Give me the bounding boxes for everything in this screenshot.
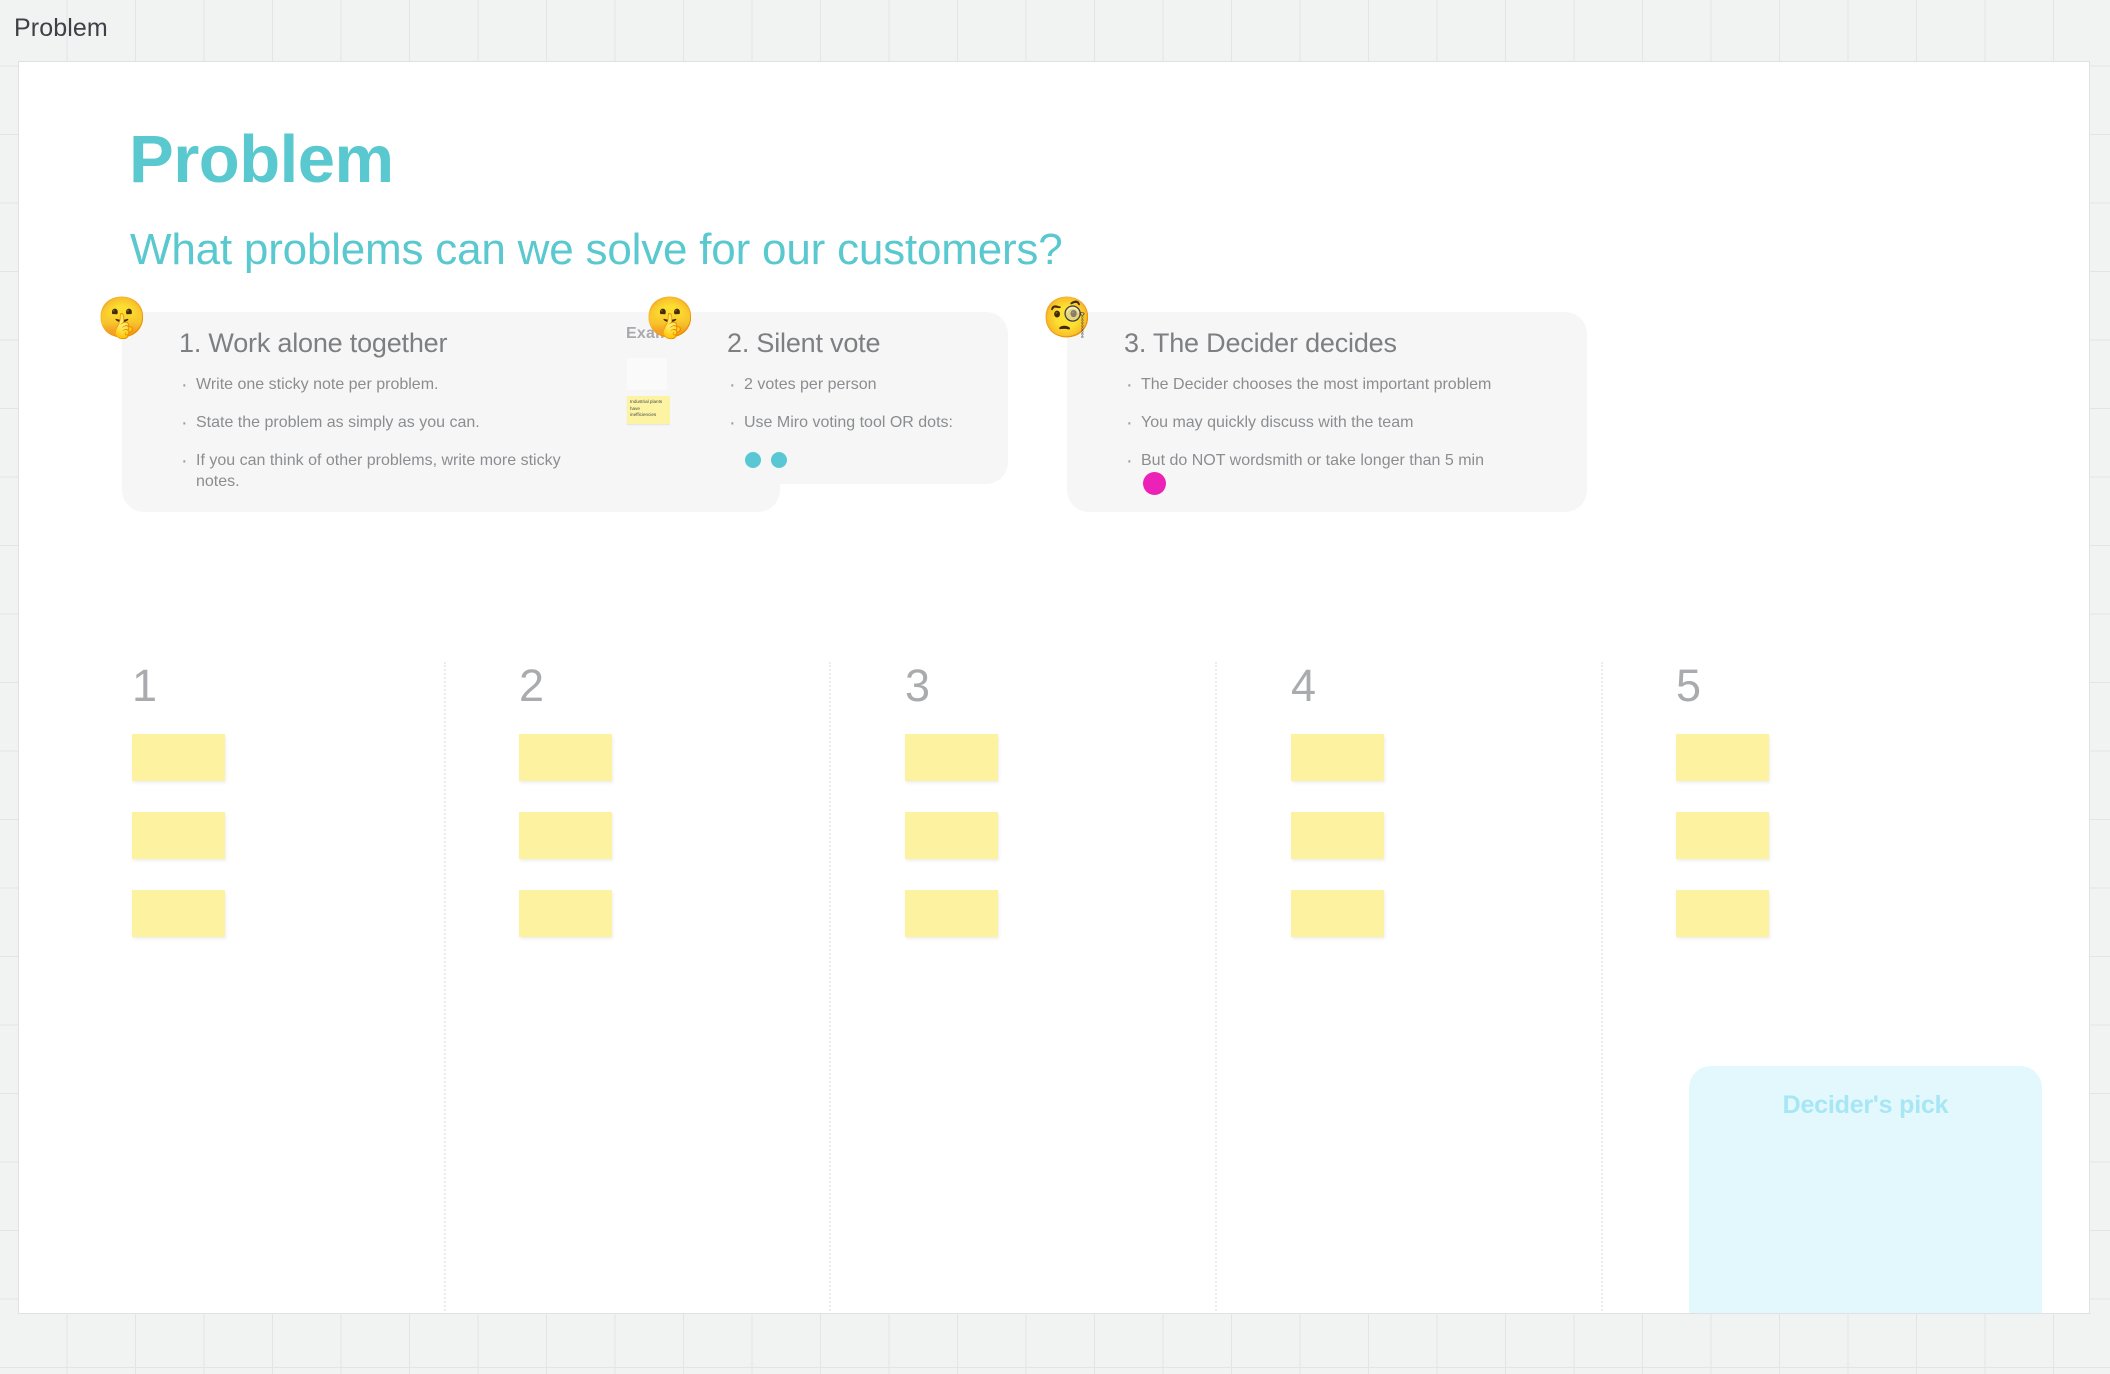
column-number-2: 2 [519,663,544,708]
sticky-note[interactable] [1291,734,1384,781]
sticky-note[interactable] [905,812,998,859]
sticky-note[interactable] [1291,812,1384,859]
card-bullet: Use Miro voting tool OR dots: [727,412,953,433]
page-title: Problem [129,126,394,193]
card-title: 1. Work alone together [179,328,447,359]
example-sticky-note[interactable]: Industrial plants have inefficiencies [627,396,670,424]
card-bullet-list: The Decider chooses the most important p… [1124,374,1491,488]
sticky-note[interactable] [905,890,998,937]
card-bullet: If you can think of other problems, writ… [179,450,571,492]
card-bullet-list: 2 votes per person Use Miro voting tool … [727,374,953,450]
card-bullet: State the problem as simply as you can. [179,412,571,433]
card-bullet: Write one sticky note per problem. [179,374,571,395]
sticky-note[interactable] [1291,890,1384,937]
sticky-note[interactable] [905,734,998,781]
sticky-note[interactable] [1676,734,1769,781]
card-title: 3. The Decider decides [1124,328,1397,359]
column-divider [1601,662,1603,1314]
frame-title[interactable]: Problem [14,14,108,43]
card-bullet: The Decider chooses the most important p… [1124,374,1491,395]
board-frame[interactable]: Problem What problems can we solve for o… [18,61,2090,1314]
shushing-face-emoji: 🤫 [97,298,147,338]
card-bullet: 2 votes per person [727,374,953,395]
sticky-note[interactable] [132,812,225,859]
instruction-card-3[interactable]: 🧐 3. The Decider decides The Decider cho… [1067,312,1587,512]
decider-vote-dot[interactable] [1143,472,1166,495]
page-subtitle: What problems can we solve for our custo… [130,228,1063,272]
column-number-3: 3 [905,663,930,708]
column-divider [829,662,831,1314]
sticky-note[interactable] [519,890,612,937]
deciders-pick-label: Decider's pick [1689,1091,2042,1120]
card-bullet: But do NOT wordsmith or take longer than… [1124,450,1491,471]
column-divider [1215,662,1217,1314]
example-placeholder [627,358,667,390]
sticky-note[interactable] [519,734,612,781]
sticky-note[interactable] [132,890,225,937]
sticky-note[interactable] [519,812,612,859]
deciders-pick-area[interactable]: Decider's pick [1689,1066,2042,1314]
sticky-note[interactable] [1676,812,1769,859]
instruction-card-2[interactable]: 🤫 2. Silent vote 2 votes per person Use … [670,312,1008,484]
column-number-5: 5 [1676,663,1701,708]
column-number-1: 1 [132,663,157,708]
face-with-monocle-emoji: 🧐 [1042,298,1092,338]
sticky-note[interactable] [1676,890,1769,937]
column-number-4: 4 [1291,663,1316,708]
card-title: 2. Silent vote [727,328,880,359]
card-bullet-list: Write one sticky note per problem. State… [179,374,571,509]
column-divider [444,662,446,1314]
shushing-face-emoji: 🤫 [645,298,695,338]
sticky-note[interactable] [132,734,225,781]
card-bullet: You may quickly discuss with the team [1124,412,1491,433]
vote-dot[interactable] [745,452,761,468]
vote-dot[interactable] [771,452,787,468]
